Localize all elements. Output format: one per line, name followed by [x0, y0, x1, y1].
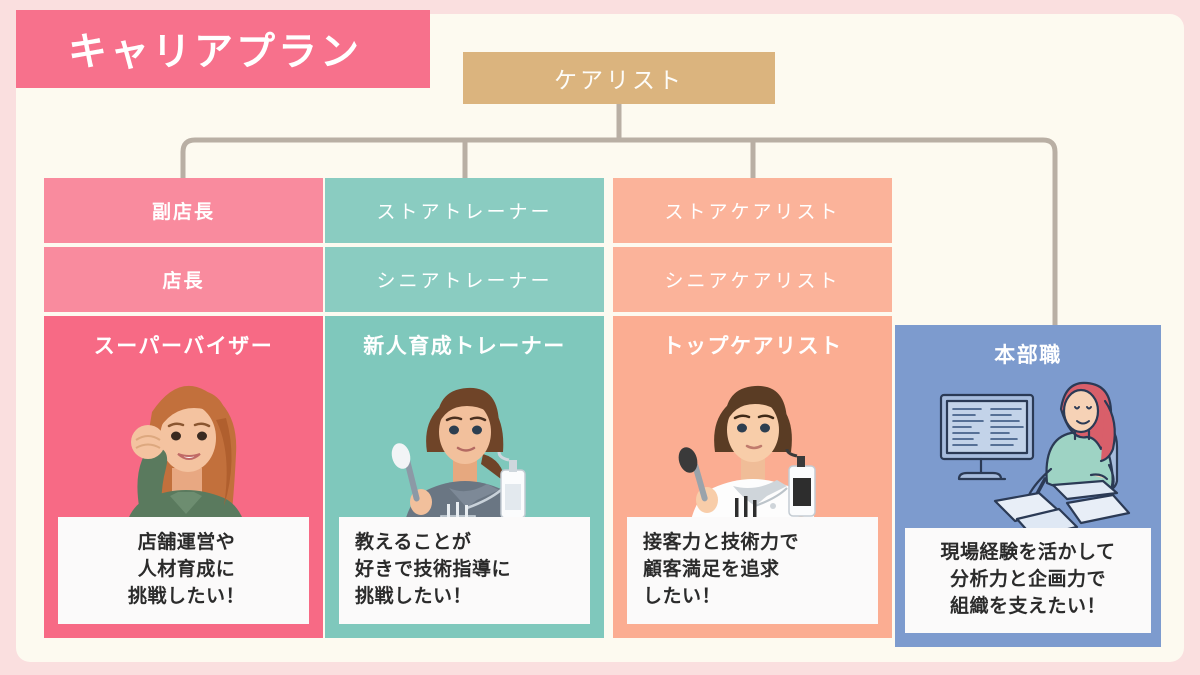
card-headquarters[interactable]: 本部職 [895, 325, 1161, 647]
caption-text: 教えることが 好きで技術指導に 挑戦したい！ [355, 530, 580, 611]
card-top-carelist[interactable]: トップケアリスト [613, 316, 892, 638]
root-node-care-list[interactable]: ケアリスト [463, 52, 775, 104]
card-caption: 店舗運営や 人材育成に 挑戦したい！ [58, 517, 309, 624]
card-title: トップケアリスト [663, 330, 843, 360]
rank-label: 副店長 [152, 197, 215, 224]
root-node-label: ケアリスト [554, 61, 684, 95]
card-caption: 現場経験を活かして 分析力と企画力で 組織を支えたい！ [905, 528, 1151, 633]
column-store-management: 副店長 店長 スーパーバイザー [44, 178, 323, 638]
rank-box-senior-trainer[interactable]: シニアトレーナー [325, 247, 604, 312]
card-title: スーパーバイザー [94, 330, 274, 360]
rank-label: シニアトレーナー [376, 266, 552, 293]
rank-box-store-manager[interactable]: 店長 [44, 247, 323, 312]
card-new-staff-trainer[interactable]: 新人育成トレーナー [325, 316, 604, 638]
caption-text: 店舗運営や 人材育成に 挑戦したい！ [74, 530, 299, 611]
rank-label: シニアケアリスト [664, 266, 840, 293]
card-supervisor[interactable]: スーパーバイザー [44, 316, 323, 638]
woman-desk-computer-icon [895, 353, 1161, 539]
card-caption: 教えることが 好きで技術指導に 挑戦したい！ [339, 517, 590, 624]
page-title-banner: キャリアプラン [16, 10, 430, 88]
card-title: 本部職 [994, 339, 1062, 369]
column-trainer: ストアトレーナー シニアトレーナー 新人育成トレーナー [325, 178, 604, 638]
rank-label: 店長 [162, 266, 204, 293]
column-headquarters: 本部職 [895, 325, 1161, 647]
rank-box-store-carelist[interactable]: ストアケアリスト [613, 178, 892, 243]
page-title: キャリアプラン [68, 21, 362, 77]
column-care-specialist: ストアケアリスト シニアケアリスト トップケアリスト [613, 178, 892, 638]
rank-label: ストアケアリスト [664, 197, 840, 224]
rank-label: ストアトレーナー [376, 197, 552, 224]
caption-text: 現場経験を活かして 分析力と企画力で 組織を支えたい！ [911, 540, 1145, 621]
career-plan-diagram: キャリアプラン ケアリスト 副店長 店長 スーパーバイザー [0, 0, 1200, 675]
card-title: 新人育成トレーナー [363, 330, 566, 360]
caption-text: 接客力と技術力で 顧客満足を追求 したい！ [643, 530, 868, 611]
rank-box-assistant-manager[interactable]: 副店長 [44, 178, 323, 243]
rank-box-store-trainer[interactable]: ストアトレーナー [325, 178, 604, 243]
card-caption: 接客力と技術力で 顧客満足を追求 したい！ [627, 517, 878, 624]
rank-box-senior-carelist[interactable]: シニアケアリスト [613, 247, 892, 312]
